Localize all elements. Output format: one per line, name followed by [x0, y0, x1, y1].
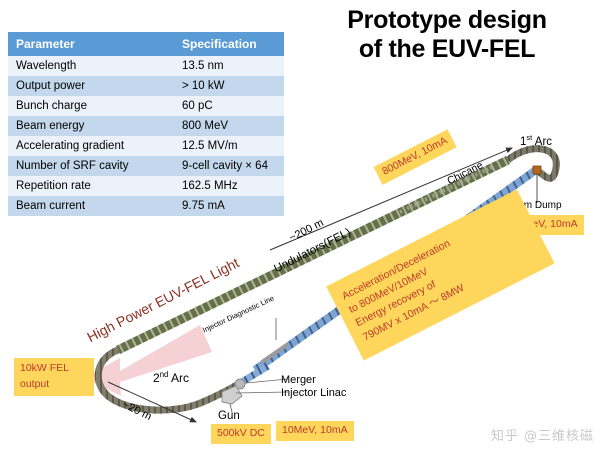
label-merger: Merger [281, 374, 316, 386]
label-gun: Gun [218, 410, 240, 422]
callout-injector-10mev: 10MeV, 10mA [276, 421, 354, 441]
callout-fel-output-line2: output [20, 377, 88, 393]
slide-canvas: Prototype design of the EUV-FEL Paramete… [0, 0, 600, 450]
callout-gun-500kv-dc: 500kV DC [211, 424, 271, 444]
watermark: 知乎 @三维核磁 [491, 425, 594, 444]
callout-fel-output-line1: 10kW FEL [20, 361, 88, 377]
electron-gun [222, 386, 288, 412]
injector-diagnostic-line [262, 318, 288, 362]
label-injector-linac: Injector Linac [281, 387, 346, 399]
label-2nd-arc: 2nd Arc [153, 370, 189, 385]
callout-10kw-fel-output: 10kW FEL output [14, 358, 94, 396]
label-1st-arc: 1st Arc [520, 133, 552, 148]
